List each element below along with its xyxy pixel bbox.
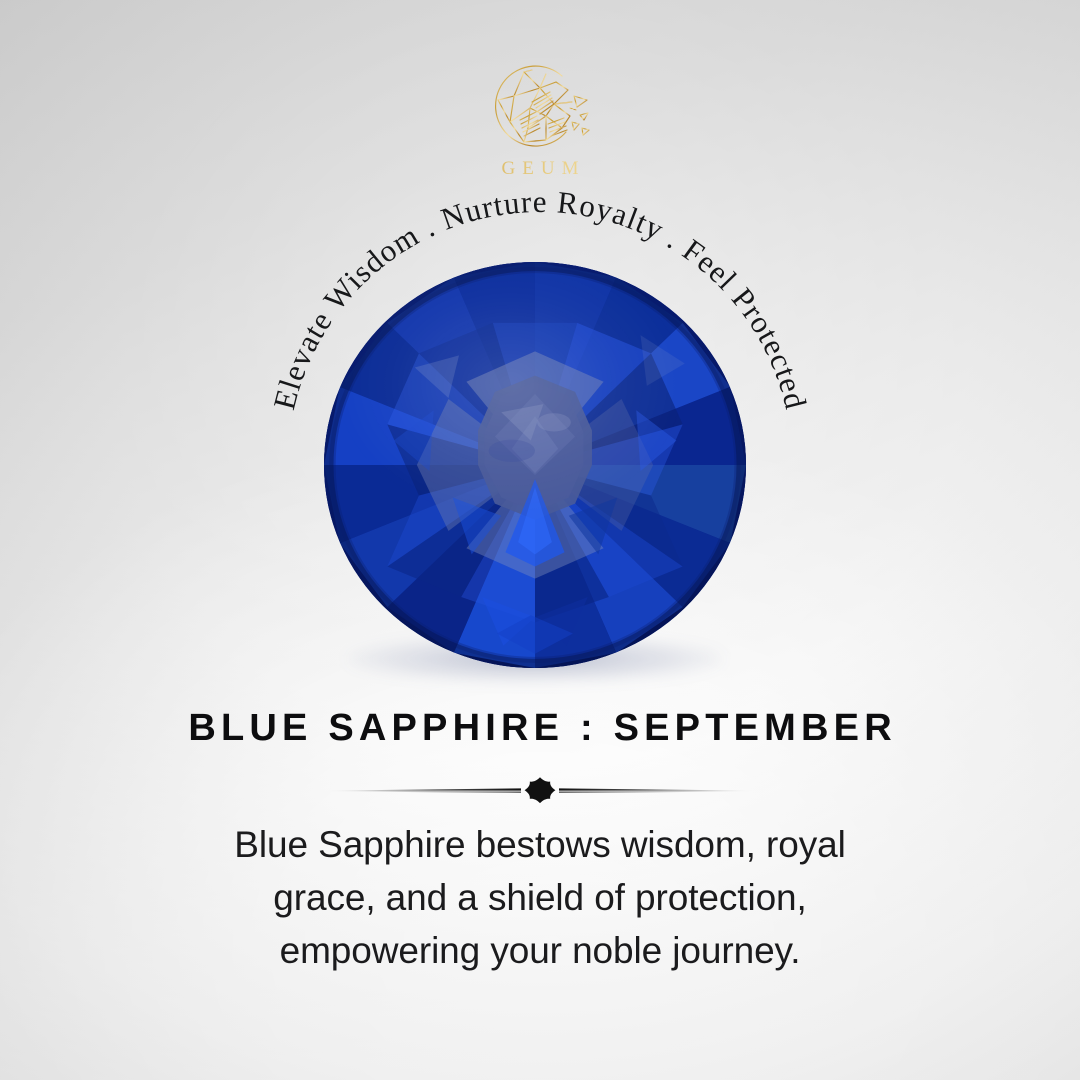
brand-wordmark: GEUM	[0, 158, 1080, 180]
blue-sapphire-gemstone	[324, 262, 746, 668]
description-line-3: empowering your noble journey.	[190, 924, 890, 977]
geum-gem-emblem-icon	[484, 62, 596, 154]
page-title: BLUE SAPPHIRE : SEPTEMBER	[0, 707, 1080, 750]
divider-rule-left	[325, 788, 521, 792]
ornamental-divider	[325, 776, 755, 804]
quatrefoil-ornament-icon	[525, 777, 556, 803]
divider-rule-right	[559, 788, 755, 792]
description-line-2: grace, and a shield of protection,	[190, 871, 890, 924]
poster-canvas: GEUM	[0, 0, 1080, 1080]
gemstone-figure	[324, 262, 746, 668]
description-text: Blue Sapphire bestows wisdom, royal grac…	[190, 818, 890, 977]
brand-logo: GEUM	[0, 62, 1080, 180]
description-line-1: Blue Sapphire bestows wisdom, royal	[190, 818, 890, 871]
